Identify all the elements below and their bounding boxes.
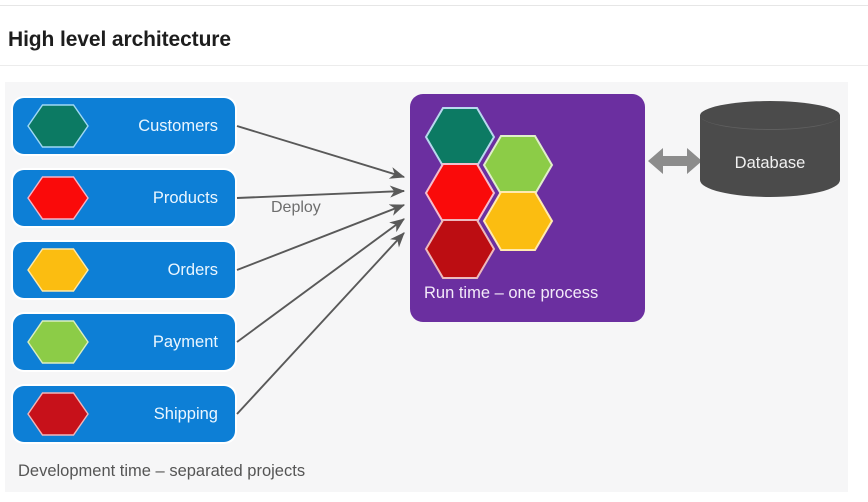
project-card-payment[interactable]: Payment	[13, 314, 235, 370]
runtime-box-label: Run time – one process	[424, 284, 598, 303]
hexagon-icon	[27, 392, 89, 436]
page-root: High level architecture Customers Produc…	[0, 0, 868, 502]
project-card-shipping[interactable]: Shipping	[13, 386, 235, 442]
hexagon-icon	[27, 104, 89, 148]
top-divider	[0, 5, 868, 6]
project-card-products[interactable]: Products	[13, 170, 235, 226]
deploy-label: Deploy	[271, 199, 321, 217]
hexagon-icon	[27, 320, 89, 364]
project-card-label: Products	[153, 170, 218, 226]
title-divider	[0, 65, 868, 66]
project-card-orders[interactable]: Orders	[13, 242, 235, 298]
project-card-label: Shipping	[154, 386, 218, 442]
runtime-payment-hexagon-icon	[482, 134, 554, 196]
project-card-label: Orders	[168, 242, 218, 298]
project-card-label: Payment	[153, 314, 218, 370]
database-label: Database	[700, 101, 840, 211]
double-headed-arrow-icon	[648, 145, 702, 177]
database-cylinder[interactable]: Database	[700, 101, 840, 211]
hexagon-icon	[27, 248, 89, 292]
project-card-customers[interactable]: Customers	[13, 98, 235, 154]
runtime-orders-hexagon-icon	[482, 190, 554, 252]
page-title: High level architecture	[8, 28, 231, 52]
hexagon-icon	[27, 176, 89, 220]
diagram-caption: Development time – separated projects	[18, 462, 305, 481]
runtime-process-box[interactable]: Run time – one process	[410, 94, 645, 322]
project-card-label: Customers	[138, 98, 218, 154]
